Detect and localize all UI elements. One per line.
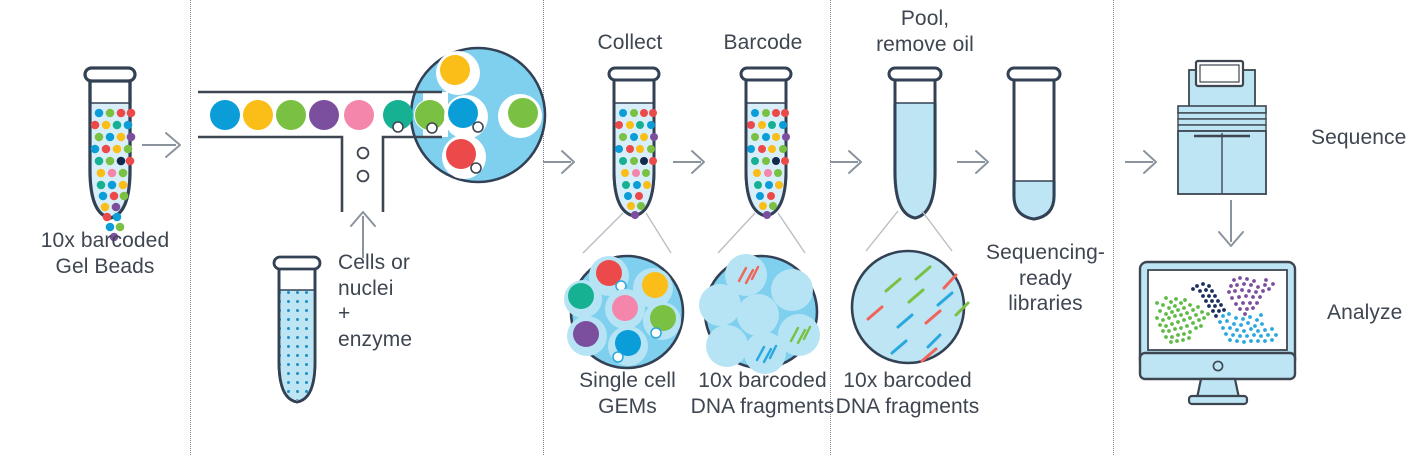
pool-remove-oil-title: Pool, remove oil [850,6,1000,57]
sequencer-graphic [1171,50,1291,220]
arrow-collect-to-barcode [671,142,717,182]
panel-sequence-analyze: Sequence [1113,0,1428,455]
barcoded-dna-caption-2: 10x barcoded DNA fragments [830,368,985,419]
barcoded-dna-caption: 10x barcoded DNA fragments [685,368,840,419]
gel-bead-tube-graphic [0,0,190,240]
collect-title: Collect [575,30,685,56]
gel-beads-caption: 10x barcoded Gel Beads [20,228,190,279]
cells-enzyme-caption: Cells or nuclei + enzyme [338,250,488,352]
barcoded-fragments-magnifier [699,254,820,374]
panel-gem-generation: Cells or nuclei + enzyme [190,0,543,455]
sequencing-ready-caption: Sequencing- ready libraries [978,240,1113,317]
workflow-diagram: 10x barcoded Gel Beads [0,0,1428,455]
single-cell-gems-magnifier [564,256,683,368]
single-cell-gems-caption: Single cell GEMs [555,368,700,419]
barcode-title: Barcode [708,30,818,56]
panel-pool-remove-oil: Pool, remove oil [830,0,1113,455]
incoming-cells [358,148,369,182]
sample-tube-graphic [248,252,348,452]
monitor-graphic [1135,258,1320,408]
analyze-title: Analyze [1327,300,1428,326]
panel-gel-beads: 10x barcoded Gel Beads [0,0,190,455]
arrow-sequencer-to-monitor [1211,198,1251,258]
sequence-title: Sequence [1311,125,1428,151]
arrow-library-to-sequencer [1123,142,1169,182]
arrow-beads-to-chip [140,125,195,165]
arrow-chip-to-collect [541,142,587,182]
panel-collect-barcode: Collect Barcode [543,0,830,455]
